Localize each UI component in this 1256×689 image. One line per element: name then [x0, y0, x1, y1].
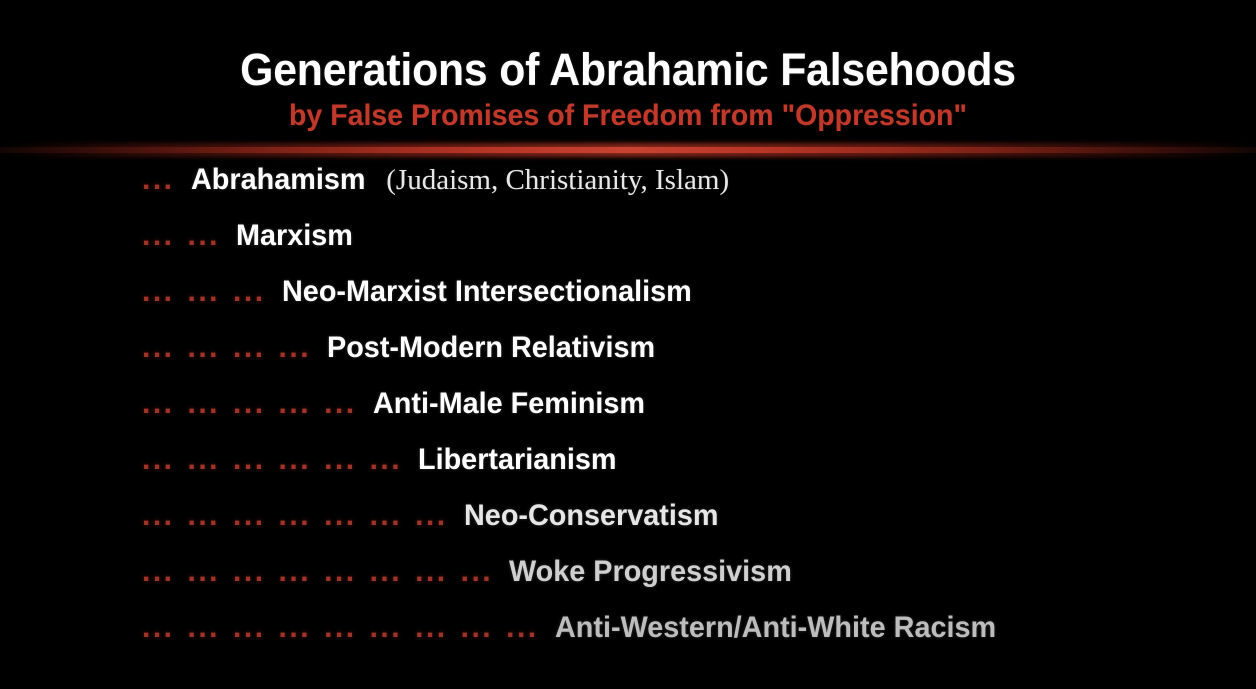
- dot-group-icon: ...: [324, 613, 357, 643]
- dot-group-icon: ...: [142, 389, 175, 419]
- list-item-label: Anti-Western/Anti-White Racism: [555, 611, 996, 645]
- indent-dots: ...............: [142, 389, 370, 419]
- dot-group-icon: ...: [142, 445, 175, 475]
- dot-group-icon: ...: [188, 445, 221, 475]
- dot-group-icon: ...: [415, 557, 448, 587]
- dot-group-icon: ...: [279, 389, 312, 419]
- dot-group-icon: ...: [188, 501, 221, 531]
- dot-group-icon: ...: [324, 501, 357, 531]
- list-item-label: Anti-Male Feminism: [373, 387, 645, 421]
- list-item: .....................Neo-Conservatism: [0, 499, 1256, 555]
- dot-group-icon: ...: [415, 613, 448, 643]
- hierarchy-list: ...Abrahamism(Judaism, Christianity, Isl…: [0, 163, 1256, 667]
- slide-root: Generations of Abrahamic Falsehoods by F…: [0, 0, 1256, 689]
- dot-group-icon: ...: [279, 501, 312, 531]
- dot-group-icon: ...: [279, 333, 312, 363]
- indent-dots: ........................: [142, 557, 506, 587]
- indent-dots: ...........................: [142, 613, 552, 643]
- list-item: ...........................Anti-Western/…: [0, 611, 1256, 667]
- dot-group-icon: ...: [324, 389, 357, 419]
- dot-group-icon: ...: [142, 333, 175, 363]
- dot-group-icon: ...: [142, 501, 175, 531]
- dot-group-icon: ...: [370, 557, 403, 587]
- dot-group-icon: ...: [370, 613, 403, 643]
- dot-group-icon: ...: [142, 165, 175, 195]
- dot-group-icon: ...: [506, 613, 539, 643]
- list-item: ............Post-Modern Relativism: [0, 331, 1256, 387]
- list-item-label: Woke Progressivism: [509, 555, 792, 589]
- list-item: .........Neo-Marxist Intersectionalism: [0, 275, 1256, 331]
- dot-group-icon: ...: [142, 613, 175, 643]
- dot-group-icon: ...: [142, 221, 175, 251]
- dot-group-icon: ...: [188, 221, 221, 251]
- list-item-label: Libertarianism: [418, 443, 616, 477]
- dot-group-icon: ...: [233, 277, 266, 307]
- dot-group-icon: ...: [415, 501, 448, 531]
- dot-group-icon: ...: [279, 445, 312, 475]
- header-divider: [0, 143, 1256, 157]
- dot-group-icon: ...: [188, 613, 221, 643]
- slide-header: Generations of Abrahamic Falsehoods by F…: [0, 0, 1256, 134]
- dot-group-icon: ...: [142, 557, 175, 587]
- dot-group-icon: ...: [233, 333, 266, 363]
- divider-line: [0, 147, 1256, 153]
- dot-group-icon: ...: [233, 445, 266, 475]
- dot-group-icon: ...: [188, 557, 221, 587]
- indent-dots: ......: [142, 221, 233, 251]
- dot-group-icon: ...: [188, 333, 221, 363]
- dot-group-icon: ...: [142, 277, 175, 307]
- dot-group-icon: ...: [279, 613, 312, 643]
- list-item: ......Marxism: [0, 219, 1256, 275]
- list-item-label: Neo-Conservatism: [464, 499, 718, 533]
- dot-group-icon: ...: [324, 557, 357, 587]
- dot-group-icon: ...: [461, 557, 494, 587]
- list-item-label: Post-Modern Relativism: [327, 331, 655, 365]
- list-item-label: Abrahamism: [191, 163, 365, 197]
- indent-dots: .....................: [142, 501, 461, 531]
- dot-group-icon: ...: [188, 389, 221, 419]
- indent-dots: .........: [142, 277, 279, 307]
- dot-group-icon: ...: [461, 613, 494, 643]
- dot-group-icon: ...: [370, 501, 403, 531]
- dot-group-icon: ...: [233, 613, 266, 643]
- list-item: ...Abrahamism(Judaism, Christianity, Isl…: [0, 163, 1256, 219]
- indent-dots: ............: [142, 333, 324, 363]
- page-title: Generations of Abrahamic Falsehoods: [31, 0, 1224, 96]
- page-subtitle: by False Promises of Freedom from "Oppre…: [31, 96, 1224, 134]
- list-item-label: Marxism: [236, 219, 353, 253]
- dot-group-icon: ...: [188, 277, 221, 307]
- indent-dots: ...: [142, 165, 188, 195]
- list-item: ..................Libertarianism: [0, 443, 1256, 499]
- list-item: ...............Anti-Male Feminism: [0, 387, 1256, 443]
- dot-group-icon: ...: [233, 557, 266, 587]
- dot-group-icon: ...: [279, 557, 312, 587]
- indent-dots: ..................: [142, 445, 415, 475]
- list-item: ........................Woke Progressivi…: [0, 555, 1256, 611]
- list-item-note: (Judaism, Christianity, Islam): [386, 163, 729, 197]
- dot-group-icon: ...: [370, 445, 403, 475]
- list-item-label: Neo-Marxist Intersectionalism: [282, 275, 692, 309]
- dot-group-icon: ...: [233, 501, 266, 531]
- dot-group-icon: ...: [324, 445, 357, 475]
- dot-group-icon: ...: [233, 389, 266, 419]
